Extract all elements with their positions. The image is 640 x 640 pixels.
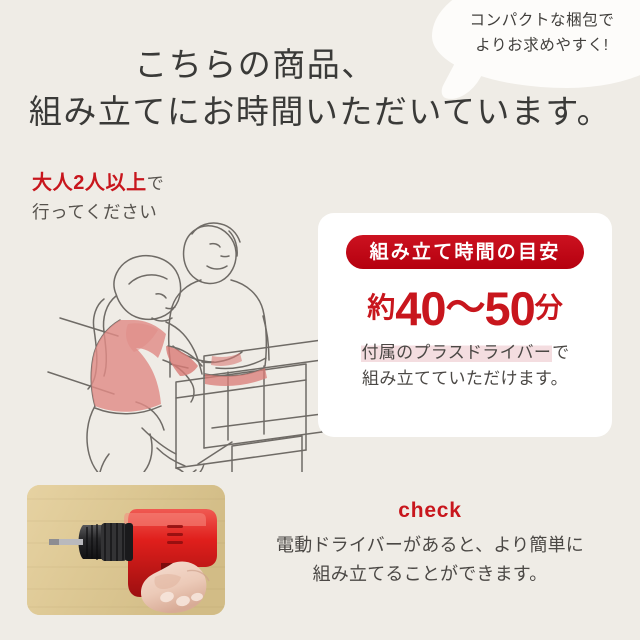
card-description: 付属のプラスドライバーで 組み立てていただけます。 [318,340,612,393]
time-to: 50 [485,285,535,332]
driver-highlight: 付属のプラスドライバー [361,343,553,362]
card-description-line-1-tail: で [552,343,569,362]
check-line-2: 組み立てることができます。 [238,560,622,589]
drill-photo [27,485,225,615]
adult-warning-emphasis: 大人2人以上 [32,172,147,194]
time-prefix: 約 [367,294,395,322]
speech-bubble-line-1: コンパクトな梱包で [438,8,640,33]
check-label: check [238,498,622,523]
adult-warning-caption: 大人2人以上で 行ってください [32,170,164,225]
adult-warning-emphasis-tail: で [147,174,165,193]
time-unit: 分 [535,294,563,322]
assembly-notice-graphic: コンパクトな梱包で よりお求めやすく! こちらの商品、 組み立てにお時間いただい… [0,0,640,640]
speech-bubble-text: コンパクトな梱包で よりお求めやすく! [438,8,640,58]
speech-bubble-line-2: よりお求めやすく! [438,33,640,58]
card-description-line-1: 付属のプラスドライバーで [318,340,612,366]
assembly-time-banner-label: 組み立て時間の目安 [370,243,561,262]
card-description-line-2: 組み立てていただけます。 [318,366,612,392]
time-from: 40 [395,285,445,332]
headline-line-2: 組み立てにお時間いただいています。 [0,91,640,134]
assembly-time-banner: 組み立て時間の目安 [346,235,584,269]
assembly-illustration [16,196,326,472]
adult-warning-line-1: 大人2人以上で [32,170,164,198]
adult-warning-line-2: 行ってください [32,200,164,225]
check-block: check 電動ドライバーがあると、より簡単に 組み立てることができます。 [238,498,622,590]
check-line-1: 電動ドライバーがあると、より簡単に [238,531,622,560]
check-text: 電動ドライバーがあると、より簡単に 組み立てることができます。 [238,531,622,589]
time-range-wave: 〜 [446,288,485,328]
assembly-time-value: 約40〜50分 [318,281,612,335]
